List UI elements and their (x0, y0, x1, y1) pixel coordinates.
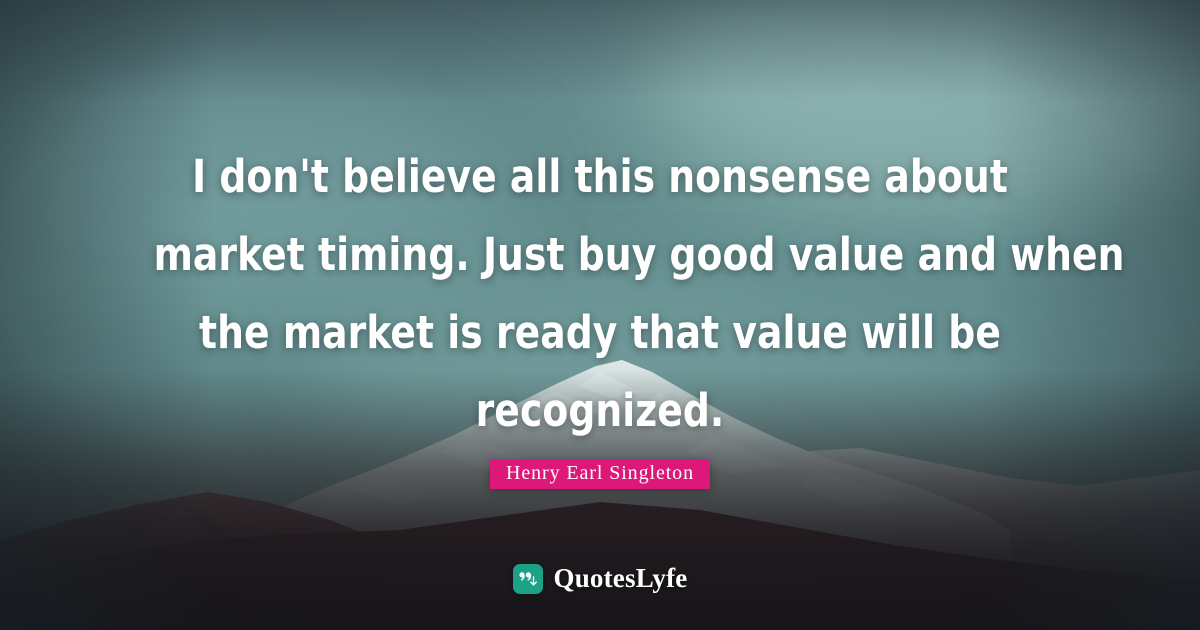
brand-name: QuotesLyfe (554, 563, 688, 594)
quote-marks-icon (513, 564, 543, 594)
quote-line: the market is ready that value will be (154, 294, 1047, 372)
quote-line: I don't believe all this nonsense about (154, 138, 1047, 216)
quote-line: market timing. Just buy good value and w… (154, 216, 1047, 294)
author-badge-wrapper: Henry Earl Singleton (490, 460, 710, 489)
quote-text: I don't believe all this nonsense about … (154, 138, 1047, 450)
quote-line: recognized. (154, 372, 1047, 450)
author-name-badge: Henry Earl Singleton (490, 460, 710, 489)
quote-card: I don't believe all this nonsense about … (0, 0, 1200, 630)
brand-logo[interactable]: QuotesLyfe (0, 563, 1200, 594)
card-content: I don't believe all this nonsense about … (0, 0, 1200, 630)
